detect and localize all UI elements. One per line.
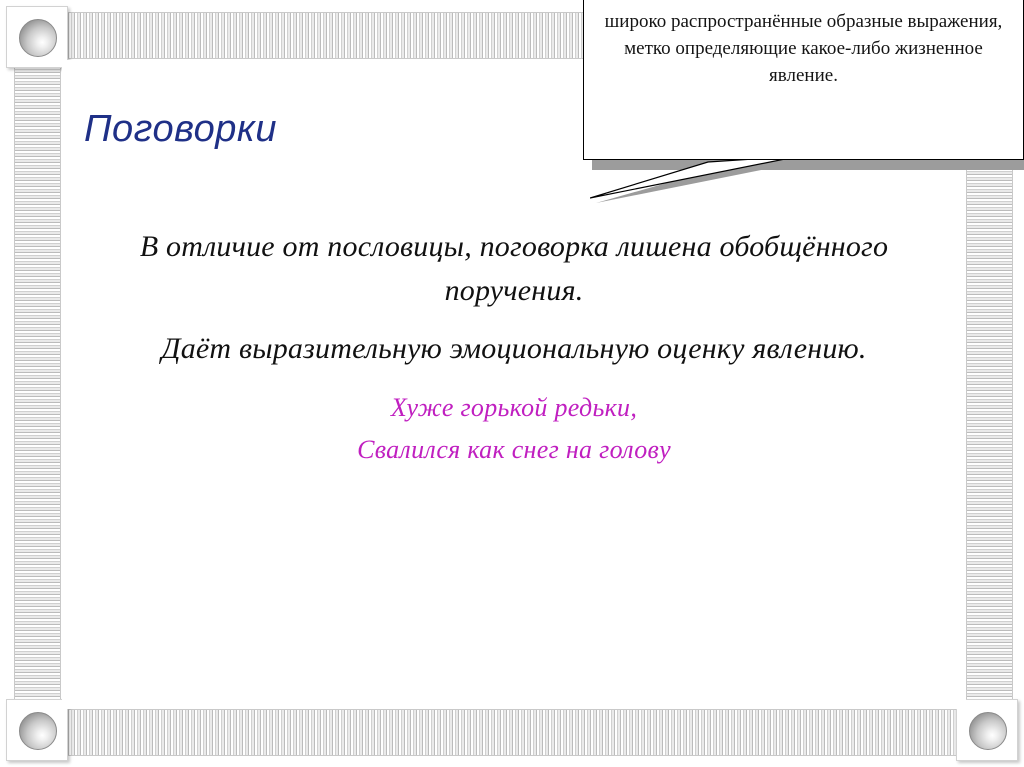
body-paragraph-2: Даёт выразительную эмоциональную оценку …: [74, 327, 954, 371]
frame-band-left: [14, 60, 61, 708]
sphere-ornament-icon: [19, 19, 57, 57]
saying-example-1: Хуже горькой редьки,: [74, 387, 954, 429]
callout-bubble: широко распространённые образные выражен…: [583, 0, 1024, 160]
callout-tail: [590, 156, 800, 200]
page-title: Поговорки: [84, 108, 277, 151]
sphere-ornament-icon: [19, 712, 57, 750]
saying-example-2: Свалился как снег на голову: [74, 429, 954, 471]
body-paragraph-1: В отличие от пословицы, поговорка лишена…: [74, 225, 954, 313]
frame-corner-bottom-left: [6, 699, 68, 761]
frame-corner-top-left: [6, 6, 68, 68]
callout-text: широко распространённые образные выражен…: [584, 0, 1023, 89]
frame-band-bottom: [62, 709, 965, 756]
slide-body: В отличие от пословицы, поговорка лишена…: [74, 225, 954, 471]
slide-canvas: Поговорки В отличие от пословицы, погово…: [0, 0, 1024, 767]
sphere-ornament-icon: [969, 712, 1007, 750]
